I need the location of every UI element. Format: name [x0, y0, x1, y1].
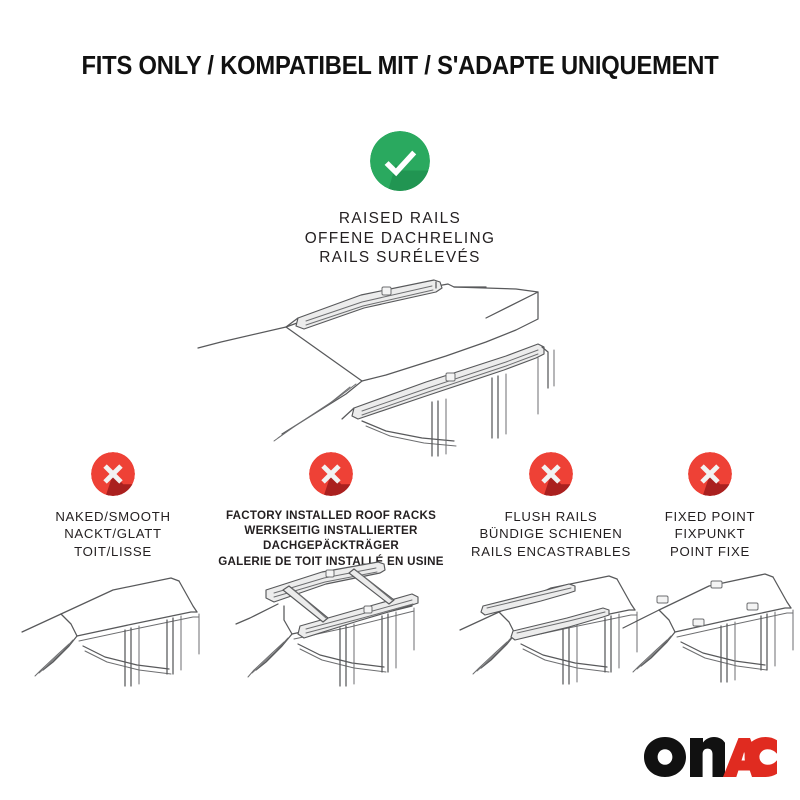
- incompatible-item-flush-rails: FLUSH RAILS BÜNDIGE SCHIENEN RAILS ENCAS…: [450, 452, 652, 560]
- cross-badge-wrap: [208, 452, 454, 498]
- incompatible-labels-naked-smooth: NAKED/SMOOTH NACKT/GLATT TOIT/LISSE: [13, 508, 213, 560]
- compatible-labels: RAISED RAILS OFFENE DACHRELING RAILS SUR…: [0, 209, 800, 268]
- label-de-1: WERKSEITIG INSTALLIERTER: [208, 523, 454, 538]
- incompatible-section: NAKED/SMOOTH NACKT/GLATT TOIT/LISSE: [0, 452, 800, 702]
- label-en: NAKED/SMOOTH: [13, 508, 213, 525]
- car-roof-naked-smooth-illustration: [13, 562, 213, 697]
- label-fr: POINT FIXE: [625, 543, 795, 560]
- omac-logo: [643, 736, 778, 778]
- cross-badge-wrap: [450, 452, 652, 498]
- cross-circle-icon: [529, 452, 573, 496]
- cross-circle-icon: [309, 452, 353, 496]
- label-en: FIXED POINT: [625, 508, 795, 525]
- label-de-2: DACHGEPÄCKTRÄGER: [208, 538, 454, 553]
- car-roof-with-raised-rails-illustration: [186, 278, 616, 458]
- label-fr: RAILS ENCASTRABLES: [450, 543, 652, 560]
- label-de: NACKT/GLATT: [13, 525, 213, 542]
- compatible-label-fr: RAILS SURÉLEVÉS: [0, 248, 800, 268]
- incompatible-labels-flush-rails: FLUSH RAILS BÜNDIGE SCHIENEN RAILS ENCAS…: [450, 508, 652, 560]
- label-fr: TOIT/LISSE: [13, 543, 213, 560]
- car-roof-with-factory-crossbars-illustration: [226, 560, 436, 697]
- incompatible-item-naked-smooth: NAKED/SMOOTH NACKT/GLATT TOIT/LISSE: [13, 452, 213, 560]
- compatible-section: RAISED RAILS OFFENE DACHRELING RAILS SUR…: [0, 131, 800, 268]
- label-en: FACTORY INSTALLED ROOF RACKS: [208, 508, 454, 523]
- cross-circle-icon: [91, 452, 135, 496]
- cross-badge-wrap: [625, 452, 795, 498]
- incompatible-labels-fixed-point: FIXED POINT FIXPUNKT POINT FIXE: [625, 508, 795, 560]
- label-de: FIXPUNKT: [625, 525, 795, 542]
- check-circle-icon: [370, 131, 430, 191]
- compatible-label-en: RAISED RAILS: [0, 209, 800, 229]
- incompatible-item-fixed-point: FIXED POINT FIXPUNKT POINT FIXE: [625, 452, 795, 560]
- compatible-label-de: OFFENE DACHRELING: [0, 229, 800, 249]
- cross-circle-icon: [688, 452, 732, 496]
- cross-badge-wrap: [13, 452, 213, 498]
- label-en: FLUSH RAILS: [450, 508, 652, 525]
- label-de: BÜNDIGE SCHIENEN: [450, 525, 652, 542]
- incompatible-item-factory-racks: FACTORY INSTALLED ROOF RACKS WERKSEITIG …: [208, 452, 454, 569]
- car-roof-with-fixed-points-illustration: [615, 562, 800, 697]
- page-title: FITS ONLY / KOMPATIBEL MIT / S'ADAPTE UN…: [28, 52, 772, 81]
